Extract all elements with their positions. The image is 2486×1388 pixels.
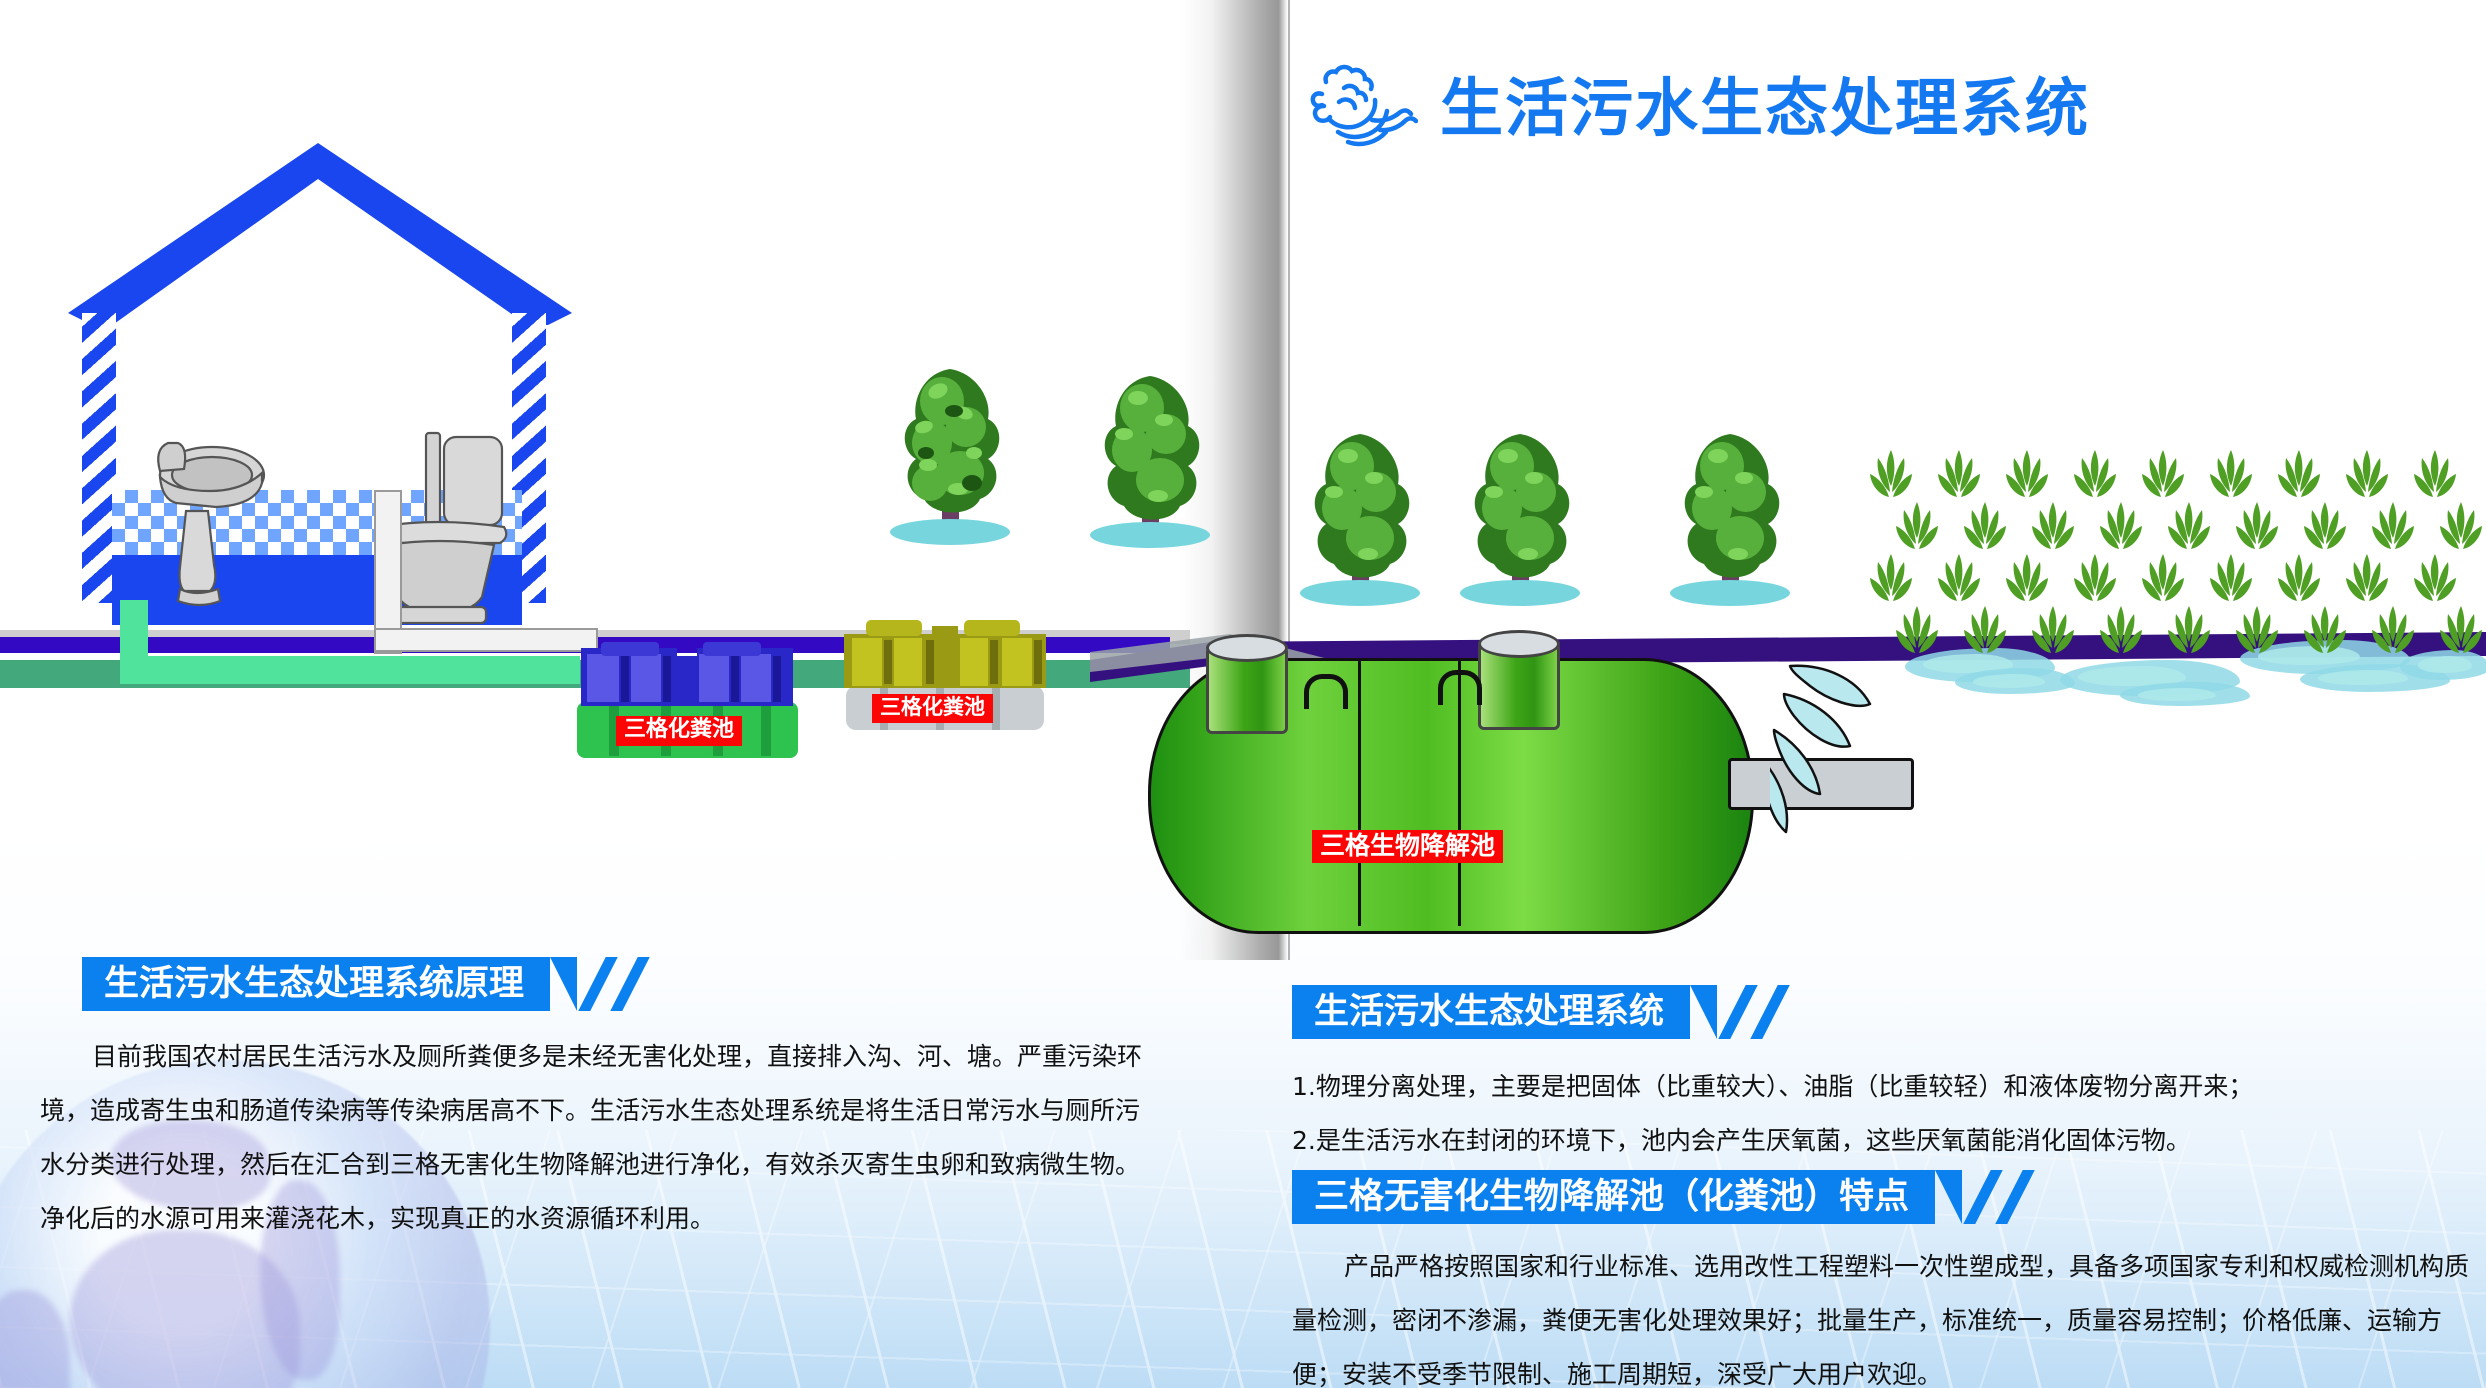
left-heading-slashes	[584, 957, 660, 1011]
grass-plant	[2412, 448, 2458, 506]
bio-tank-riser-top-2	[1478, 630, 1560, 658]
grass-icon	[2072, 552, 2118, 610]
bio-tank-seam-1	[1358, 660, 1361, 926]
label-bio-tank: 三格生物降解池	[1312, 830, 1503, 863]
grass-plant	[2344, 552, 2390, 610]
left-heading-bar: 生活污水生态处理系统原理	[82, 957, 550, 1011]
right-heading-1-text: 生活污水生态处理系统	[1314, 995, 1664, 1030]
tree-2	[1090, 372, 1210, 552]
grass-icon	[1962, 604, 2008, 662]
house-illustration	[60, 135, 580, 655]
greywater-pipe-horizontal	[120, 656, 580, 684]
grass-icon	[2140, 448, 2186, 506]
grass-icon	[2004, 552, 2050, 610]
right-heading-1: 生活污水生态处理系统	[1292, 985, 1800, 1039]
grass-icon	[2438, 604, 2484, 662]
tree-3	[1300, 430, 1420, 610]
left-heading: 生活污水生态处理系统原理	[82, 957, 660, 1011]
bio-tank-riser-top-1	[1206, 634, 1288, 662]
label-septic-olive: 三格化粪池	[872, 694, 993, 723]
grass-plant	[2438, 604, 2484, 662]
tree-1	[890, 365, 1010, 545]
grass-icon	[2302, 500, 2348, 558]
grass-plant	[2344, 448, 2390, 506]
grass-icon	[2072, 448, 2118, 506]
grass-icon	[2140, 552, 2186, 610]
right-heading-2-slashes	[1969, 1170, 2045, 1224]
right-item-1: 1.物理分离处理，主要是把固体（比重较大）、油脂（比重较轻）和液体废物分离开来；	[1292, 1060, 2472, 1114]
grass-icon	[1936, 552, 1982, 610]
water-patch-pale	[2318, 670, 2408, 685]
grass-plant	[2140, 448, 2186, 506]
water-spray-icon	[1770, 660, 1970, 860]
grass-icon	[1962, 500, 2008, 558]
grass-icon	[2370, 500, 2416, 558]
water-patch-pale	[2138, 688, 2216, 701]
grass-plant	[2302, 500, 2348, 558]
grass-plant	[1894, 500, 1940, 558]
grass-icon	[2234, 500, 2280, 558]
grass-plant	[2166, 500, 2212, 558]
bio-tank-handle-2	[1438, 670, 1482, 705]
grass-plant	[1962, 604, 2008, 662]
grass-plant	[2004, 448, 2050, 506]
poster-canvas: 生活污水生态处理系统	[0, 0, 2486, 1388]
grass-icon	[2098, 604, 2144, 662]
grass-plant	[2098, 500, 2144, 558]
page-title: 生活污水生态处理系统	[1300, 62, 2090, 154]
grass-plant	[2302, 604, 2348, 662]
grass-icon	[1868, 552, 1914, 610]
grass-icon	[1894, 604, 1940, 662]
grass-plant	[2072, 552, 2118, 610]
grass-icon	[2276, 448, 2322, 506]
label-septic-blue: 三格化粪池	[616, 716, 742, 746]
tree-icon	[890, 365, 1010, 545]
toilet-pipe-horizontal	[374, 628, 598, 652]
page-title-text: 生活污水生态处理系统	[1440, 77, 2090, 140]
grass-icon	[1894, 500, 1940, 558]
right-heading-2-text: 三格无害化生物降解池（化粪池）特点	[1314, 1180, 1909, 1215]
house-wall-left	[82, 313, 116, 603]
grass-icon	[2030, 500, 2076, 558]
grass-plant	[2140, 552, 2186, 610]
grass-plant	[2276, 552, 2322, 610]
grass-icon	[2438, 500, 2484, 558]
grass-plant	[2004, 552, 2050, 610]
grass-icon	[2004, 448, 2050, 506]
sink-icon	[130, 427, 275, 627]
grass-plant	[2370, 500, 2416, 558]
grass-plant	[1962, 500, 2008, 558]
grass-icon	[2098, 500, 2144, 558]
grass-plant	[2234, 500, 2280, 558]
bio-tank-handle-1	[1304, 674, 1348, 709]
grass-icon	[2234, 604, 2280, 662]
grass-icon	[2370, 604, 2416, 662]
right-heading-2: 三格无害化生物降解池（化粪池）特点	[1292, 1170, 2045, 1224]
tree-4	[1460, 430, 1580, 610]
right-heading-1-slashes	[1724, 985, 1800, 1039]
grass-icon	[1868, 448, 1914, 506]
grass-icon	[2302, 604, 2348, 662]
house-roof-icon	[60, 135, 580, 325]
grass-icon	[2344, 552, 2390, 610]
grass-plant	[1936, 448, 1982, 506]
right-heading-2-bar: 三格无害化生物降解池（化粪池）特点	[1292, 1170, 1935, 1224]
grass-plant	[1868, 448, 1914, 506]
grass-plant	[2276, 448, 2322, 506]
right-heading-1-bar: 生活污水生态处理系统	[1292, 985, 1690, 1039]
grass-plant	[2370, 604, 2416, 662]
grass-plant	[2438, 500, 2484, 558]
grass-icon	[2208, 448, 2254, 506]
grass-plant	[2208, 448, 2254, 506]
grass-icon	[2412, 552, 2458, 610]
right-item-2: 2.是生活污水在封闭的环境下，池内会产生厌氧菌，这些厌氧菌能消化固体污物。	[1292, 1114, 2472, 1168]
grass-icon	[2276, 552, 2322, 610]
grass-plant	[1894, 604, 1940, 662]
water-patch-pale	[1973, 674, 2045, 688]
grass-icon	[1936, 448, 1982, 506]
grass-icon	[2166, 604, 2212, 662]
grass-plant	[2234, 604, 2280, 662]
grass-plant	[2166, 604, 2212, 662]
grass-plant	[2208, 552, 2254, 610]
grass-plant	[2030, 500, 2076, 558]
left-paragraph: 目前我国农村居民生活污水及厕所粪便多是未经无害化处理，直接排入沟、河、塘。严重污…	[40, 1030, 1160, 1246]
grass-icon	[2208, 552, 2254, 610]
grass-icon	[2030, 604, 2076, 662]
wave-cloud-icon	[1300, 62, 1418, 154]
grass-icon	[2412, 448, 2458, 506]
grass-icon	[2344, 448, 2390, 506]
grass-plant	[2412, 552, 2458, 610]
grass-plant	[2072, 448, 2118, 506]
left-heading-text: 生活污水生态处理系统原理	[104, 967, 524, 1002]
right-paragraph-2: 产品严格按照国家和行业标准、选用改性工程塑料一次性塑成型，具备多项国家专利和权威…	[1292, 1240, 2472, 1388]
bio-degradation-tank	[1108, 640, 1788, 930]
grass-plant	[2030, 604, 2076, 662]
grass-plant	[1868, 552, 1914, 610]
grass-plant	[1936, 552, 1982, 610]
tree-5	[1670, 430, 1790, 610]
grass-plant	[2098, 604, 2144, 662]
grass-icon	[2166, 500, 2212, 558]
